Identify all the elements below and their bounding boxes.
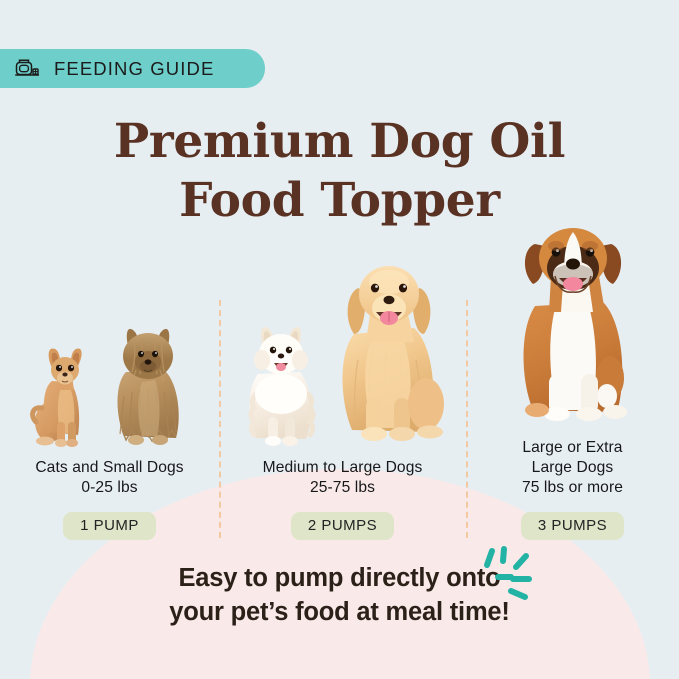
chihuahua-illustration bbox=[26, 336, 98, 452]
caption-small: Cats and Small Dogs 0-25 lbs bbox=[35, 458, 183, 498]
caption-large-line3: 75 lbs or more bbox=[522, 478, 623, 498]
caption-small-line1: Cats and Small Dogs bbox=[35, 458, 183, 478]
feeding-guide-banner: FEEDING GUIDE bbox=[0, 49, 265, 88]
tagline-line-1: Easy to pump directly onto bbox=[0, 562, 679, 596]
caption-medium: Medium to Large Dogs 25-75 lbs bbox=[263, 458, 423, 498]
tagline-line-2: your pet’s food at meal time! bbox=[0, 596, 679, 630]
caption-small-line2: 0-25 lbs bbox=[35, 478, 183, 498]
pump-badge-small: 1 PUMP bbox=[63, 512, 156, 540]
caption-medium-line1: Medium to Large Dogs bbox=[263, 458, 423, 478]
dog-images-small bbox=[26, 222, 194, 452]
yorkshire-terrier-illustration bbox=[102, 312, 194, 452]
feeding-columns: Cats and Small Dogs 0-25 lbs 1 PUMP bbox=[0, 210, 679, 540]
caption-large: Large or Extra Large Dogs 75 lbs or more bbox=[522, 438, 623, 498]
title-line-1: Premium Dog Oil bbox=[114, 114, 565, 169]
caption-large-line1: Large or Extra bbox=[522, 438, 623, 458]
feeding-guide-label: FEEDING GUIDE bbox=[54, 58, 214, 80]
feeding-column-medium: Medium to Large Dogs 25-75 lbs 2 PUMPS bbox=[219, 210, 466, 540]
feeding-guide-poster: FEEDING GUIDE Premium Dog Oil Food Toppe… bbox=[0, 0, 679, 679]
pump-badge-large: 3 PUMPS bbox=[521, 512, 624, 540]
sparkle-icon bbox=[473, 545, 539, 611]
feeding-column-large: Large or Extra Large Dogs 75 lbs or more… bbox=[466, 210, 679, 540]
caption-medium-line2: 25-75 lbs bbox=[263, 478, 423, 498]
dog-images-large bbox=[507, 210, 639, 432]
feeding-column-small: Cats and Small Dogs 0-25 lbs 1 PUMP bbox=[0, 210, 219, 540]
white-pomeranian-illustration bbox=[238, 302, 324, 452]
caption-large-line2: Large Dogs bbox=[522, 458, 623, 478]
dog-food-bag-icon bbox=[14, 57, 40, 81]
tagline: Easy to pump directly onto your pet’s fo… bbox=[0, 562, 679, 630]
boxer-illustration bbox=[507, 210, 639, 432]
golden-retriever-illustration bbox=[328, 242, 448, 452]
pump-badge-medium: 2 PUMPS bbox=[291, 512, 394, 540]
dog-images-medium bbox=[238, 222, 448, 452]
